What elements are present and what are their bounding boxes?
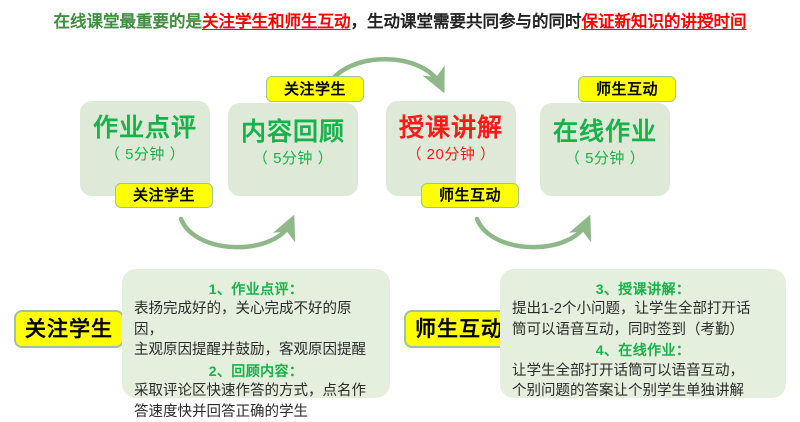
left-detail-line-1-1: 表扬完成好的，关心完成不好的原因，	[134, 299, 378, 340]
right-detail-line-2-1: 让学生全部打开话筒可以语音互动，	[512, 361, 774, 382]
right-detail-line-1-1: 提出1-2个小问题，让学生全部打开话	[512, 299, 774, 320]
stage-title-2: 内容回顾	[228, 119, 358, 145]
stage-badge-4[interactable]: 师生互动	[578, 76, 676, 102]
left-detail-heading-2: 2、回顾内容：	[134, 361, 378, 381]
page-title: 在线课堂最重要的是关注学生和师生互动，生动课堂需要共同参与的同时保证新知识的讲授…	[0, 8, 800, 32]
stage-badge-1[interactable]: 关注学生	[115, 183, 213, 208]
stage-badge-2[interactable]: 关注学生	[266, 76, 364, 102]
page-title-segment-3: ，生动课堂需要共同参与的同时	[351, 13, 582, 31]
right-group-label[interactable]: 师生互动	[404, 310, 514, 348]
left-detail-line-2-2: 答速度快并回答正确的学生	[134, 402, 378, 422]
left-detail-panel: 1、作业点评： 表扬完成好的，关心完成不好的原因， 主观原因提醒并鼓励，客观原因…	[122, 269, 390, 398]
stage-time-1: （ 5分钟 ）	[80, 145, 210, 165]
stage-title-4: 在线作业	[540, 119, 670, 145]
left-detail-line-2-1: 采取评论区快速作答的方式，点名作	[134, 381, 378, 402]
arrow-stage3-to-stage4	[477, 219, 587, 247]
stage-box-4[interactable]: 在线作业 （ 5分钟 ）	[540, 103, 670, 196]
left-detail-heading-1: 1、作业点评：	[134, 279, 378, 299]
stage-time-3: （ 20分钟 ）	[386, 145, 516, 165]
left-detail-line-1-2: 主观原因提醒并鼓励，客观原因提醒	[134, 340, 378, 361]
stage-box-1[interactable]: 作业点评 （ 5分钟 ）	[80, 101, 210, 196]
page-title-segment-2-highlight: 关注学生和师生互动	[202, 13, 351, 31]
left-group-label[interactable]: 关注学生	[14, 310, 124, 348]
page-title-segment-1: 在线课堂最重要的是	[54, 13, 203, 31]
right-detail-heading-1: 3、授课讲解：	[512, 279, 774, 299]
right-detail-line-2-2: 个别问题的答案让个别学生单独讲解	[512, 381, 774, 402]
left-detail-body-2: 采取评论区快速作答的方式，点名作 答速度快并回答正确的学生	[134, 381, 378, 422]
stage-title-1: 作业点评	[80, 115, 210, 141]
right-detail-body-1: 提出1-2个小问题，让学生全部打开话 筒可以语音互动，同时签到（考勤）	[512, 299, 774, 340]
arrow-stage1-to-stage2	[181, 219, 291, 247]
stage-time-2: （ 5分钟 ）	[228, 149, 358, 169]
right-detail-panel: 3、授课讲解： 提出1-2个小问题，让学生全部打开话 筒可以语音互动，同时签到（…	[500, 269, 786, 398]
right-detail-heading-2: 4、在线作业：	[512, 340, 774, 360]
stage-badge-3[interactable]: 师生互动	[421, 183, 519, 208]
page-title-segment-4-highlight: 保证新知识的讲授时间	[582, 13, 747, 31]
right-detail-body-2: 让学生全部打开话筒可以语音互动， 个别问题的答案让个别学生单独讲解	[512, 361, 774, 402]
stage-time-4: （ 5分钟 ）	[540, 149, 670, 169]
left-detail-body-1: 表扬完成好的，关心完成不好的原因， 主观原因提醒并鼓励，客观原因提醒	[134, 299, 378, 361]
stage-box-2[interactable]: 内容回顾 （ 5分钟 ）	[228, 103, 358, 196]
right-detail-line-1-2: 筒可以语音互动，同时签到（考勤）	[512, 320, 774, 341]
stage-box-3[interactable]: 授课讲解 （ 20分钟 ）	[386, 101, 516, 196]
stage-title-3: 授课讲解	[386, 115, 516, 141]
